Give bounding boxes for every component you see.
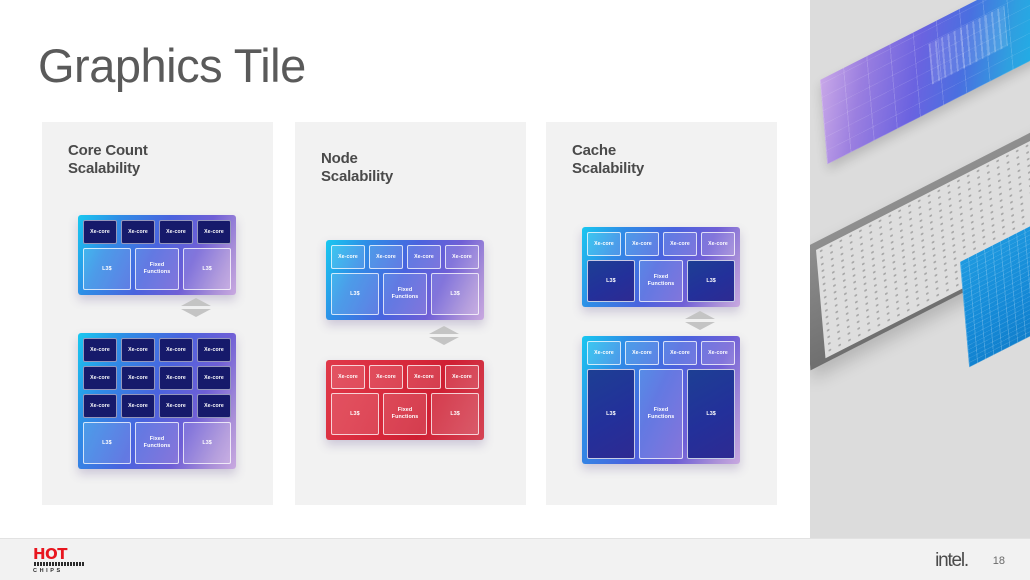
fixed-functions-block: Fixed Functions — [383, 393, 427, 435]
diagram-cache-small: Xe-coreXe-coreXe-coreXe-coreL3$Fixed Fun… — [582, 227, 740, 307]
cache-row: L3$Fixed FunctionsL3$ — [587, 369, 735, 459]
l3-cache-block: L3$ — [83, 422, 131, 464]
diagram-node-red: Xe-coreXe-coreXe-coreXe-coreL3$Fixed Fun… — [326, 360, 484, 440]
xe-core-block: Xe-core — [83, 338, 117, 362]
l3-cache-block: L3$ — [331, 393, 379, 435]
scalability-arrow-icon — [685, 311, 715, 330]
panel-node-scalability: Node Scalability Xe-coreXe-coreXe-coreXe… — [295, 122, 526, 505]
diagram-node-blue: Xe-coreXe-coreXe-coreXe-coreL3$Fixed Fun… — [326, 240, 484, 320]
l3-cache-block: L3$ — [431, 273, 479, 315]
xe-core-block: Xe-core — [121, 366, 155, 390]
fixed-functions-block: Fixed Functions — [639, 369, 683, 459]
xe-core-row: Xe-coreXe-coreXe-coreXe-core — [83, 338, 231, 362]
xe-core-block: Xe-core — [83, 220, 117, 244]
arrow-up-triangle — [429, 326, 459, 334]
diagram-cache-large: Xe-coreXe-coreXe-coreXe-coreL3$Fixed Fun… — [582, 336, 740, 464]
fixed-functions-block: Fixed Functions — [383, 273, 427, 315]
xe-core-block: Xe-core — [625, 341, 659, 365]
page-number: 18 — [993, 555, 1005, 567]
hot-chips-subtitle: CHIPS — [33, 568, 85, 574]
xe-core-block: Xe-core — [159, 394, 193, 418]
xe-core-block: Xe-core — [331, 365, 365, 389]
xe-core-block: Xe-core — [159, 366, 193, 390]
panel-container: Core Count Scalability Xe-coreXe-coreXe-… — [42, 122, 777, 505]
xe-core-block: Xe-core — [197, 366, 231, 390]
fixed-functions-block: Fixed Functions — [639, 260, 683, 302]
fixed-functions-block: Fixed Functions — [135, 248, 179, 290]
l3-cache-block: L3$ — [183, 248, 231, 290]
xe-core-block: Xe-core — [121, 338, 155, 362]
xe-core-block: Xe-core — [587, 232, 621, 256]
xe-core-row: Xe-coreXe-coreXe-coreXe-core — [83, 220, 231, 244]
xe-core-block: Xe-core — [587, 341, 621, 365]
xe-core-block: Xe-core — [445, 365, 479, 389]
arrow-down-triangle — [181, 309, 211, 317]
l3-cache-block: L3$ — [83, 248, 131, 290]
l3-cache-block: L3$ — [687, 260, 735, 302]
panel-title-core-count: Core Count Scalability — [68, 142, 148, 177]
arrow-up-triangle — [181, 298, 211, 306]
cache-row: L3$Fixed FunctionsL3$ — [331, 273, 479, 315]
xe-core-row: Xe-coreXe-coreXe-coreXe-core — [331, 245, 479, 269]
l3-cache-block: L3$ — [331, 273, 379, 315]
hot-chips-logo: HOT CHIPS — [33, 547, 85, 573]
slide: Graphics Tile Core Count Scalability Xe-… — [0, 0, 1030, 579]
xe-core-block: Xe-core — [197, 338, 231, 362]
xe-core-block: Xe-core — [407, 245, 441, 269]
xe-core-block: Xe-core — [197, 394, 231, 418]
scalability-arrow-icon — [429, 326, 459, 345]
xe-core-block: Xe-core — [83, 394, 117, 418]
xe-core-block: Xe-core — [369, 365, 403, 389]
xe-core-block: Xe-core — [701, 341, 735, 365]
cache-row: L3$Fixed FunctionsL3$ — [83, 422, 231, 464]
panel-cache-scalability: Cache Scalability Xe-coreXe-coreXe-coreX… — [546, 122, 777, 505]
xe-core-block: Xe-core — [701, 232, 735, 256]
xe-core-row: Xe-coreXe-coreXe-coreXe-core — [331, 365, 479, 389]
xe-core-block: Xe-core — [625, 232, 659, 256]
intel-logo: intel. — [935, 550, 968, 572]
footer-bar: HOT CHIPS intel. 18 — [0, 538, 1030, 580]
xe-core-row: Xe-coreXe-coreXe-coreXe-core — [83, 366, 231, 390]
page-title: Graphics Tile — [38, 40, 306, 92]
xe-core-block: Xe-core — [159, 220, 193, 244]
graphics-tile-die — [820, 0, 1030, 164]
fixed-functions-block: Fixed Functions — [135, 422, 179, 464]
xe-core-block: Xe-core — [663, 232, 697, 256]
panel-title-node: Node Scalability — [321, 150, 393, 185]
xe-core-block: Xe-core — [159, 338, 193, 362]
diagram-core-count-large: Xe-coreXe-coreXe-coreXe-coreXe-coreXe-co… — [78, 333, 236, 469]
xe-core-row: Xe-coreXe-coreXe-coreXe-core — [587, 232, 735, 256]
decorative-art-panel — [810, 0, 1030, 538]
l3-cache-block: L3$ — [183, 422, 231, 464]
panel-core-count-scalability: Core Count Scalability Xe-coreXe-coreXe-… — [42, 122, 273, 505]
l3-cache-block: L3$ — [587, 260, 635, 302]
cache-row: L3$Fixed FunctionsL3$ — [587, 260, 735, 302]
cache-row: L3$Fixed FunctionsL3$ — [331, 393, 479, 435]
l3-cache-block: L3$ — [587, 369, 635, 459]
xe-core-block: Xe-core — [83, 366, 117, 390]
arrow-up-triangle — [685, 311, 715, 319]
scalability-arrow-icon — [181, 298, 211, 317]
xe-core-block: Xe-core — [121, 220, 155, 244]
xe-core-row: Xe-coreXe-coreXe-coreXe-core — [83, 394, 231, 418]
cache-row: L3$Fixed FunctionsL3$ — [83, 248, 231, 290]
xe-core-row: Xe-coreXe-coreXe-coreXe-core — [587, 341, 735, 365]
xe-core-block: Xe-core — [369, 245, 403, 269]
panel-title-cache: Cache Scalability — [572, 142, 644, 177]
xe-core-block: Xe-core — [331, 245, 365, 269]
xe-core-block: Xe-core — [121, 394, 155, 418]
hot-chips-wordmark: HOT — [33, 547, 85, 561]
l3-cache-block: L3$ — [687, 369, 735, 459]
xe-core-block: Xe-core — [445, 245, 479, 269]
xe-core-block: Xe-core — [407, 365, 441, 389]
xe-core-block: Xe-core — [197, 220, 231, 244]
arrow-down-triangle — [685, 322, 715, 330]
l3-cache-block: L3$ — [431, 393, 479, 435]
diagram-core-count-small: Xe-coreXe-coreXe-coreXe-coreL3$Fixed Fun… — [78, 215, 236, 295]
arrow-down-triangle — [429, 337, 459, 345]
xe-core-block: Xe-core — [663, 341, 697, 365]
